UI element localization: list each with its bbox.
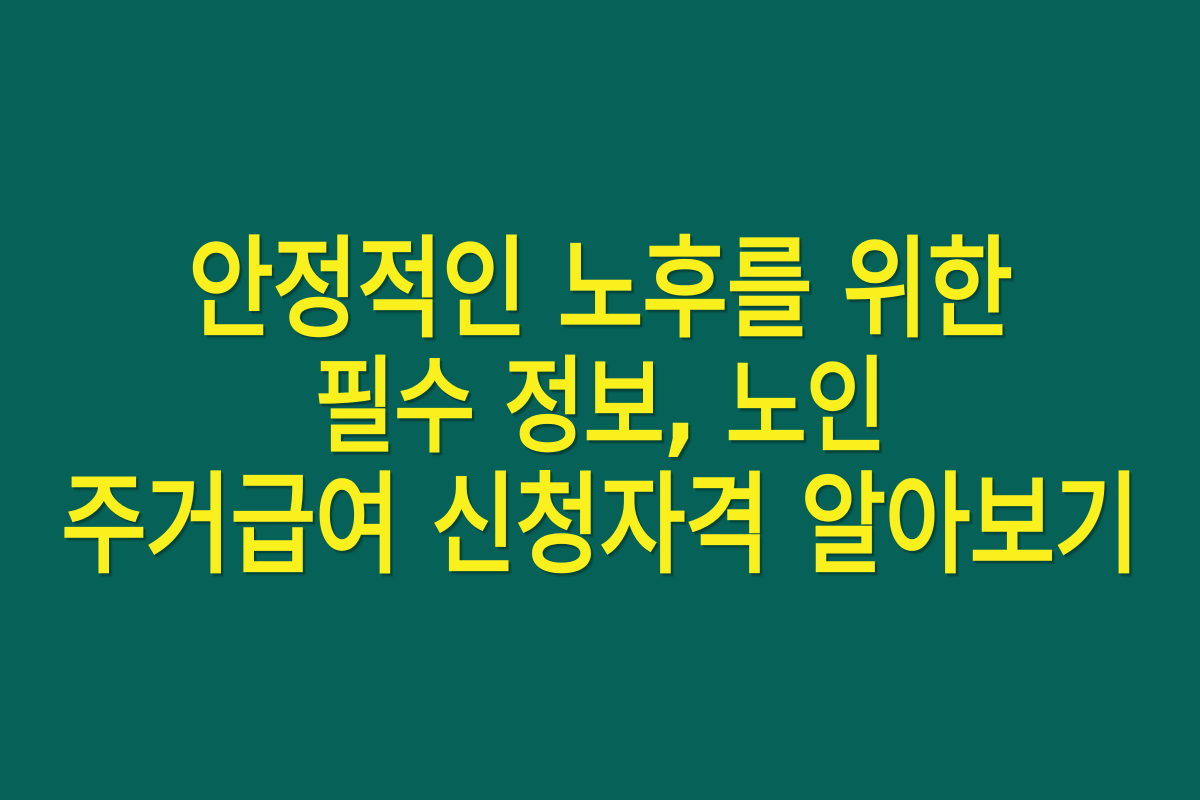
headline-block: 안정적인 노후를 위한 필수 정보, 노인 주거급여 신청자격 알아보기 xyxy=(20,230,1180,584)
headline-line-3: 주거급여 신청자격 알아보기 xyxy=(20,455,1180,594)
thumbnail-banner: 안정적인 노후를 위한 필수 정보, 노인 주거급여 신청자격 알아보기 xyxy=(0,0,1200,800)
